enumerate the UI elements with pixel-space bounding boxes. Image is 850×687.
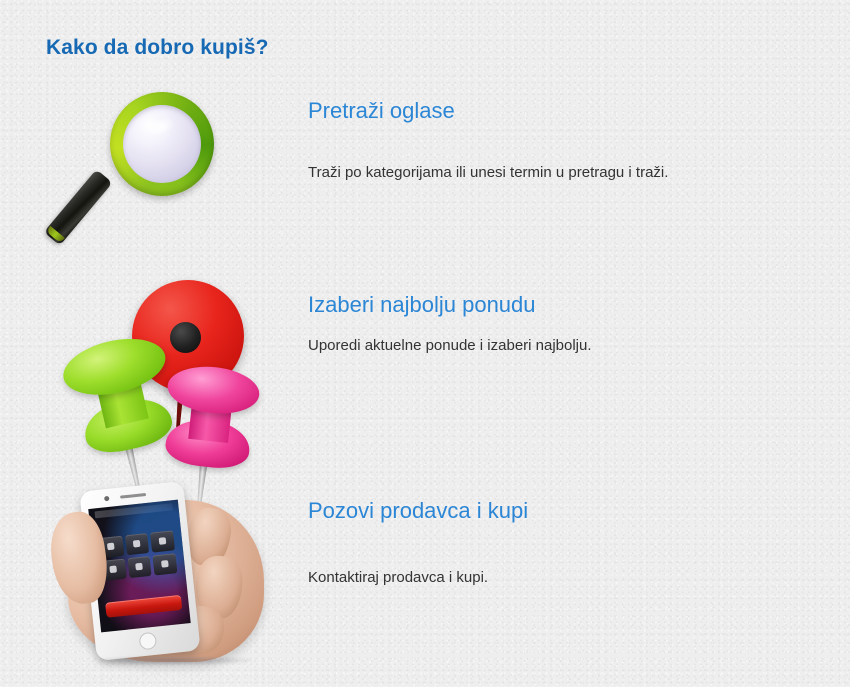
- pushpin-pink-cap: [165, 362, 261, 417]
- magnifier-lens: [123, 105, 201, 183]
- step-description-choose-offer: Uporedi aktuelne ponude i izaberi najbol…: [308, 337, 828, 354]
- call-key-keypad: [125, 533, 150, 555]
- pushpin-pink: [158, 362, 261, 483]
- phone-speaker: [120, 493, 146, 499]
- step-item-choose-offer: Izaberi najbolju ponudu Uporedi aktuelne…: [0, 272, 850, 477]
- step-text-call-seller: Pozovi prodavca i kupi Kontaktiraj proda…: [308, 478, 828, 586]
- call-controls-grid: [99, 530, 177, 580]
- magnifying-glass-icon: [40, 78, 260, 268]
- hand-holding-phone-icon: [40, 478, 260, 668]
- phone-camera: [104, 496, 109, 501]
- step-item-search: Pretraži oglase Traži po kategorijama il…: [0, 78, 850, 268]
- magnifier-ring: [110, 92, 214, 196]
- phone-home-button: [139, 632, 158, 651]
- step-description-call-seller: Kontaktiraj prodavca i kupi.: [308, 569, 828, 586]
- pushpin-red-center: [170, 322, 201, 353]
- call-key-facetime: [127, 556, 152, 578]
- call-key-speaker: [150, 530, 175, 552]
- step-heading-search: Pretraži oglase: [308, 98, 828, 124]
- pushpins-icon: [40, 272, 260, 462]
- magnifier-handle: [44, 169, 113, 245]
- phone-drop-shadow: [94, 656, 254, 665]
- step-item-call-seller: Pozovi prodavca i kupi Kontaktiraj proda…: [0, 478, 850, 678]
- step-heading-call-seller: Pozovi prodavca i kupi: [308, 498, 828, 524]
- magnifier-glare: [145, 114, 177, 140]
- page-title: Kako da dobro kupiš?: [46, 36, 269, 60]
- step-text-search: Pretraži oglase Traži po kategorijama il…: [308, 78, 828, 181]
- step-heading-choose-offer: Izaberi najbolju ponudu: [308, 292, 828, 318]
- phone-status-bar: [95, 503, 173, 518]
- call-key-contacts: [153, 553, 178, 575]
- end-call-button: [105, 595, 182, 618]
- step-description-search: Traži po kategorijama ili unesi termin u…: [308, 164, 828, 181]
- step-text-choose-offer: Izaberi najbolju ponudu Uporedi aktuelne…: [308, 272, 828, 354]
- pushpin-green-cap: [58, 330, 171, 404]
